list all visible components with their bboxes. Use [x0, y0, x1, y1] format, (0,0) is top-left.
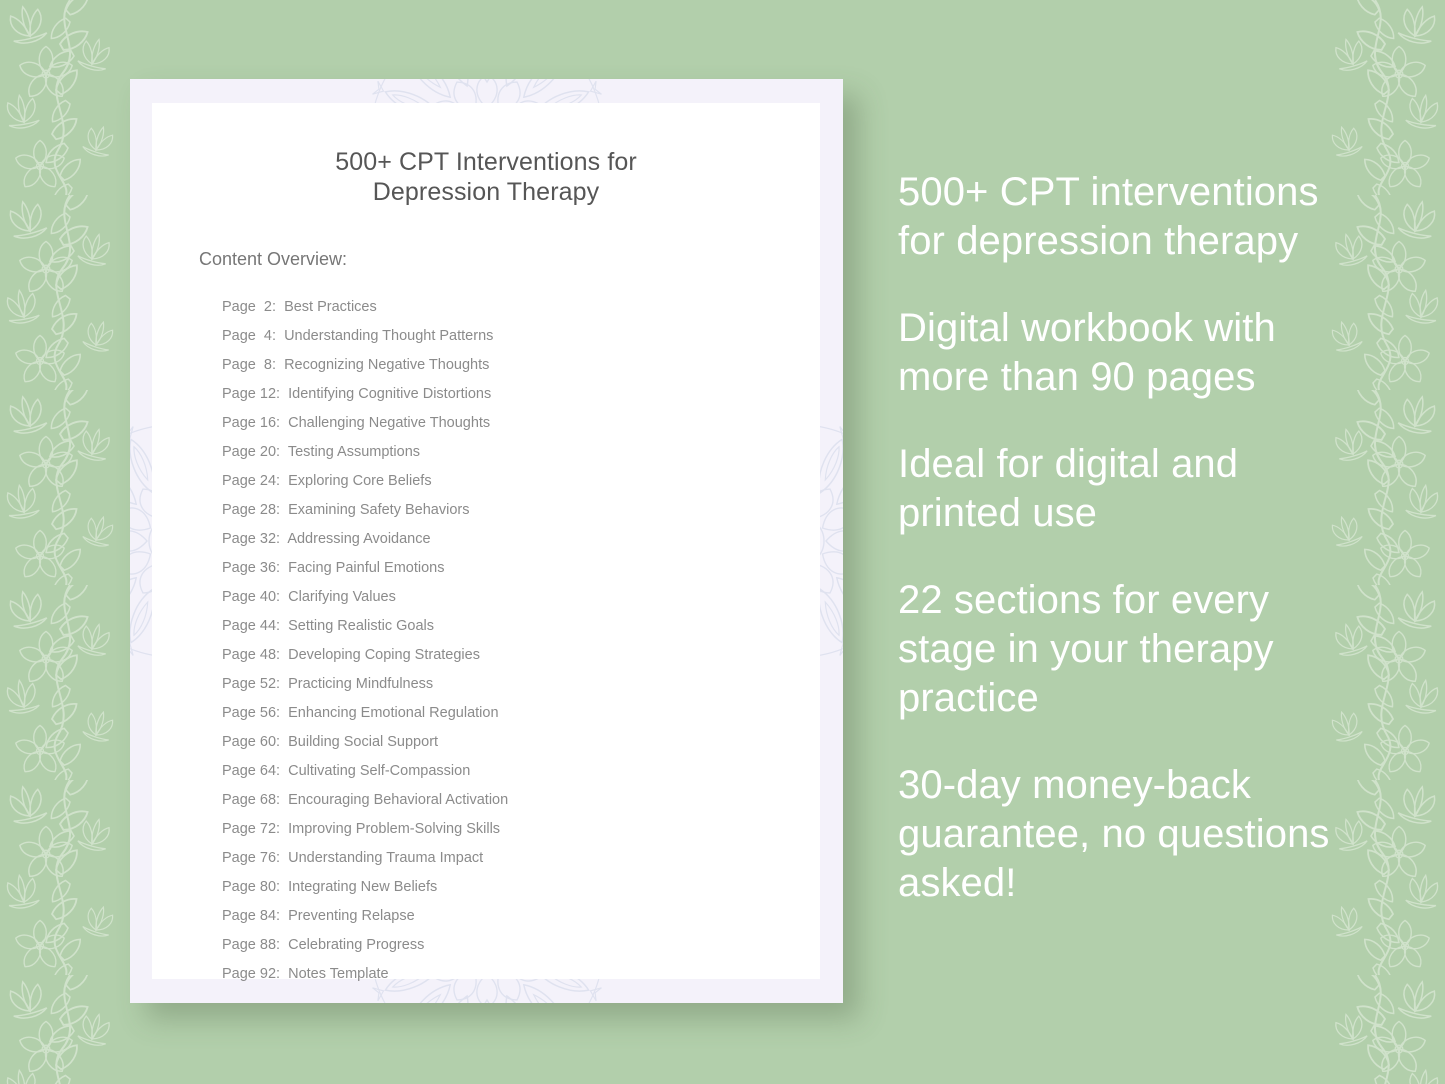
- page-title: 500+ CPT Interventions for Depression Th…: [152, 147, 820, 207]
- toc-page-number: Page 2:: [222, 293, 276, 322]
- toc-page-number: Page 36:: [222, 554, 280, 583]
- toc-entry-label: Clarifying Values: [280, 589, 396, 605]
- marketing-claims: 500+ CPT interventions for depression th…: [898, 168, 1368, 908]
- document-page: 500+ CPT Interventions for Depression Th…: [152, 103, 820, 979]
- list-item: Page 52: Practicing Mindfulness: [222, 670, 820, 699]
- toc-page-number: Page 92:: [222, 960, 280, 989]
- toc-page-number: Page 72:: [222, 815, 280, 844]
- list-item: Page 72: Improving Problem-Solving Skill…: [222, 815, 820, 844]
- toc-page-number: Page 68:: [222, 786, 280, 815]
- list-item: Page 28: Examining Safety Behaviors: [222, 496, 820, 525]
- list-item: Page 36: Facing Painful Emotions: [222, 554, 820, 583]
- toc-entry-label: Addressing Avoidance: [280, 531, 430, 547]
- list-item: Page 64: Cultivating Self-Compassion: [222, 757, 820, 786]
- toc-page-number: Page 20:: [222, 438, 280, 467]
- floral-vine-icon: [0, 0, 130, 1084]
- toc-entry-label: Understanding Trauma Impact: [280, 850, 483, 866]
- toc-entry-label: Identifying Cognitive Distortions: [280, 386, 491, 402]
- toc-page-number: Page 24:: [222, 467, 280, 496]
- toc-entry-label: Encouraging Behavioral Activation: [280, 792, 508, 808]
- list-item: Page 84: Preventing Relapse: [222, 902, 820, 931]
- toc-entry-label: Celebrating Progress: [280, 937, 424, 953]
- toc-page-number: Page 40:: [222, 583, 280, 612]
- toc-page-number: Page 84:: [222, 902, 280, 931]
- list-item: Page 20: Testing Assumptions: [222, 438, 820, 467]
- list-item: Page 2: Best Practices: [222, 293, 820, 322]
- marketing-claim: 30-day money-back guarantee, no question…: [898, 761, 1368, 908]
- toc-page-number: Page 8:: [222, 351, 276, 380]
- toc-page-number: Page 64:: [222, 757, 280, 786]
- page-title-line-2: Depression Therapy: [152, 177, 820, 207]
- list-item: Page 8: Recognizing Negative Thoughts: [222, 351, 820, 380]
- list-item: Page 68: Encouraging Behavioral Activati…: [222, 786, 820, 815]
- toc-page-number: Page 28:: [222, 496, 280, 525]
- table-of-contents: Page 2: Best PracticesPage 4: Understand…: [222, 293, 820, 989]
- toc-page-number: Page 76:: [222, 844, 280, 873]
- list-item: Page 12: Identifying Cognitive Distortio…: [222, 380, 820, 409]
- marketing-claim: 500+ CPT interventions for depression th…: [898, 168, 1368, 266]
- toc-page-number: Page 44:: [222, 612, 280, 641]
- list-item: Page 92: Notes Template: [222, 960, 820, 989]
- toc-page-number: Page 60:: [222, 728, 280, 757]
- toc-entry-label: Notes Template: [280, 966, 389, 982]
- marketing-claim: Ideal for digital and printed use: [898, 440, 1368, 538]
- toc-entry-label: Enhancing Emotional Regulation: [280, 705, 498, 721]
- toc-entry-label: Building Social Support: [280, 734, 438, 750]
- marketing-claim: 22 sections for every stage in your ther…: [898, 576, 1368, 723]
- toc-entry-label: Best Practices: [276, 299, 377, 315]
- list-item: Page 24: Exploring Core Beliefs: [222, 467, 820, 496]
- toc-entry-label: Developing Coping Strategies: [280, 647, 480, 663]
- toc-page-number: Page 52:: [222, 670, 280, 699]
- toc-entry-label: Testing Assumptions: [280, 444, 420, 460]
- list-item: Page 32: Addressing Avoidance: [222, 525, 820, 554]
- list-item: Page 80: Integrating New Beliefs: [222, 873, 820, 902]
- toc-entry-label: Understanding Thought Patterns: [276, 328, 493, 344]
- page-title-line-1: 500+ CPT Interventions for: [152, 147, 820, 177]
- toc-page-number: Page 88:: [222, 931, 280, 960]
- list-item: Page 44: Setting Realistic Goals: [222, 612, 820, 641]
- toc-page-number: Page 48:: [222, 641, 280, 670]
- toc-entry-label: Exploring Core Beliefs: [280, 473, 432, 489]
- toc-entry-label: Facing Painful Emotions: [280, 560, 444, 576]
- list-item: Page 88: Celebrating Progress: [222, 931, 820, 960]
- toc-entry-label: Recognizing Negative Thoughts: [276, 357, 489, 373]
- product-preview-card: 500+ CPT Interventions for Depression Th…: [130, 79, 843, 1003]
- list-item: Page 60: Building Social Support: [222, 728, 820, 757]
- content-overview-heading: Content Overview:: [199, 249, 820, 270]
- toc-entry-label: Challenging Negative Thoughts: [280, 415, 490, 431]
- toc-entry-label: Cultivating Self-Compassion: [280, 763, 470, 779]
- list-item: Page 56: Enhancing Emotional Regulation: [222, 699, 820, 728]
- list-item: Page 16: Challenging Negative Thoughts: [222, 409, 820, 438]
- toc-entry-label: Practicing Mindfulness: [280, 676, 433, 692]
- list-item: Page 76: Understanding Trauma Impact: [222, 844, 820, 873]
- toc-entry-label: Examining Safety Behaviors: [280, 502, 469, 518]
- toc-page-number: Page 32:: [222, 525, 280, 554]
- toc-page-number: Page 4:: [222, 322, 276, 351]
- marketing-claim: Digital workbook with more than 90 pages: [898, 304, 1368, 402]
- list-item: Page 40: Clarifying Values: [222, 583, 820, 612]
- toc-entry-label: Integrating New Beliefs: [280, 879, 437, 895]
- toc-page-number: Page 16:: [222, 409, 280, 438]
- toc-entry-label: Preventing Relapse: [280, 908, 415, 924]
- list-item: Page 48: Developing Coping Strategies: [222, 641, 820, 670]
- toc-page-number: Page 56:: [222, 699, 280, 728]
- toc-entry-label: Improving Problem-Solving Skills: [280, 821, 500, 837]
- toc-entry-label: Setting Realistic Goals: [280, 618, 434, 634]
- toc-page-number: Page 12:: [222, 380, 280, 409]
- list-item: Page 4: Understanding Thought Patterns: [222, 322, 820, 351]
- toc-page-number: Page 80:: [222, 873, 280, 902]
